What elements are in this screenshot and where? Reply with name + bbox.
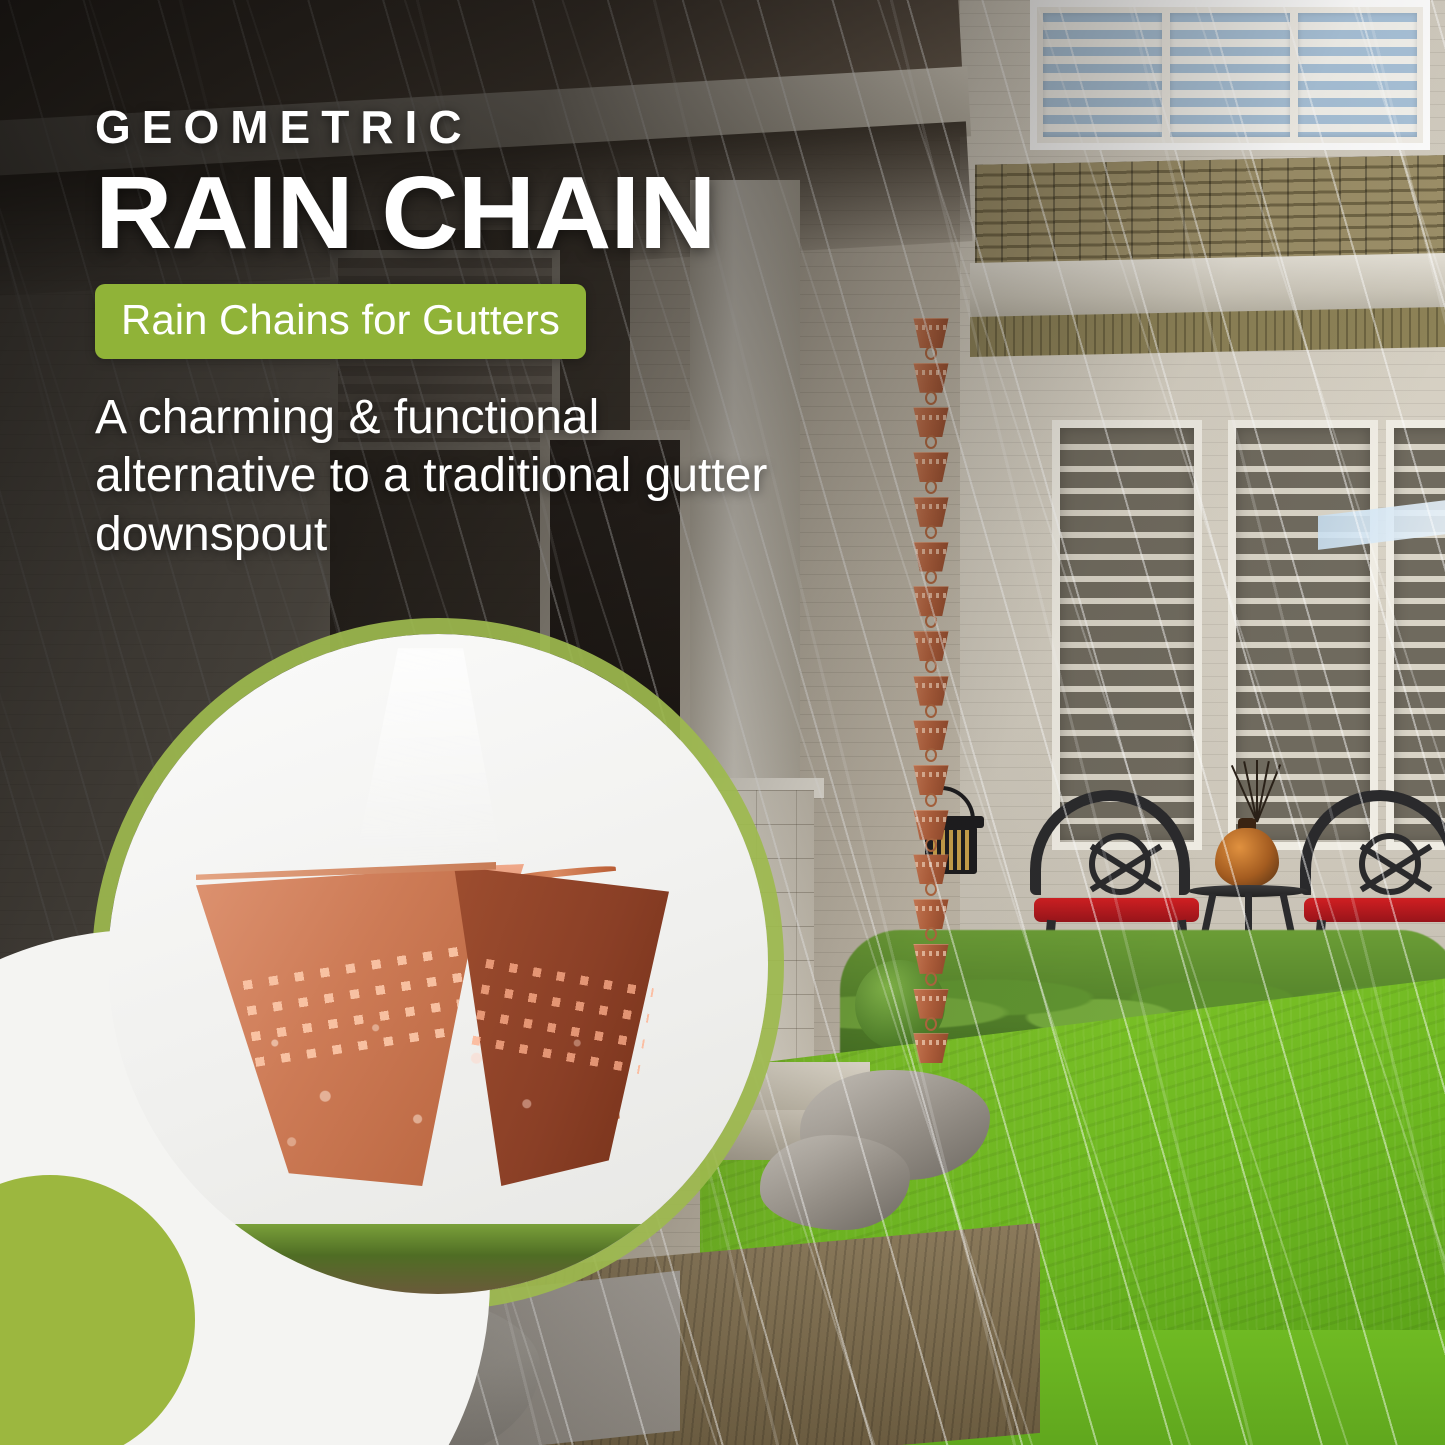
shuttered-window	[1030, 0, 1430, 150]
rain-chain-cup	[911, 407, 951, 437]
water-droplet-icon	[216, 986, 636, 1176]
rain-chain-cup	[911, 318, 951, 348]
boulder	[760, 1135, 910, 1230]
rain-chain-cup	[911, 452, 951, 482]
rain-chain-cup	[911, 854, 951, 884]
rain-chain-link	[925, 704, 937, 718]
shingle-roof	[975, 155, 1445, 270]
tall-window	[1052, 420, 1202, 850]
chair-medallion	[1359, 833, 1421, 895]
chair-cushion	[1034, 898, 1199, 922]
rain-chain-link	[925, 972, 937, 986]
rain-chain	[903, 318, 959, 1078]
rain-chain-cup	[911, 1033, 951, 1063]
rain-chain-link	[925, 614, 937, 628]
rain-chain-cup	[911, 899, 951, 929]
window-pane	[1170, 13, 1289, 137]
window-pane	[1298, 13, 1417, 137]
product-hero-banner: GEOMETRIC RAIN CHAIN Rain Chains for Gut…	[0, 0, 1445, 1445]
rain-chain-link	[925, 480, 937, 494]
rain-chain-link	[925, 435, 937, 449]
decorative-reeds	[1228, 760, 1288, 822]
rain-chain-link	[925, 391, 937, 405]
rain-chain-cup	[911, 497, 951, 527]
rain-chain-link	[925, 346, 937, 360]
rain-chain-cup	[911, 765, 951, 795]
rain-chain-link	[925, 838, 937, 852]
rain-chain-link	[925, 570, 937, 584]
tall-window	[1386, 420, 1445, 850]
rain-chain-link	[925, 748, 937, 762]
rain-chain-link	[925, 659, 937, 673]
geometric-copper-cup	[196, 866, 666, 1186]
rain-chain-cup	[911, 631, 951, 661]
rain-chain-cup	[911, 720, 951, 750]
rain-chain-cup	[911, 363, 951, 393]
headline-block: GEOMETRIC RAIN CHAIN Rain Chains for Gut…	[95, 104, 855, 564]
product-closeup-circle	[108, 634, 768, 1294]
rain-chain-link	[925, 927, 937, 941]
eyebrow-text: GEOMETRIC	[95, 104, 855, 150]
page-title: RAIN CHAIN	[95, 164, 885, 262]
water-splash	[298, 648, 548, 898]
rain-chain-link	[925, 1017, 937, 1031]
rain-chain-cup	[911, 586, 951, 616]
status-badge: Rain Chains for Gutters	[95, 284, 586, 359]
rain-chain-link	[925, 525, 937, 539]
rain-chain-cup	[911, 989, 951, 1019]
copper-vase	[1215, 828, 1279, 888]
chair-medallion	[1089, 833, 1151, 895]
window-pane	[1043, 13, 1162, 137]
rain-chain-cup	[911, 542, 951, 572]
rain-chain-link	[925, 793, 937, 807]
rain-chain-link	[925, 882, 937, 896]
rain-chain-cup	[911, 944, 951, 974]
chair-cushion	[1304, 898, 1445, 922]
rain-chain-cup	[911, 810, 951, 840]
description-text: A charming & functional alternative to a…	[95, 389, 795, 565]
inset-ground	[108, 1224, 768, 1294]
rain-chain-cup	[911, 676, 951, 706]
